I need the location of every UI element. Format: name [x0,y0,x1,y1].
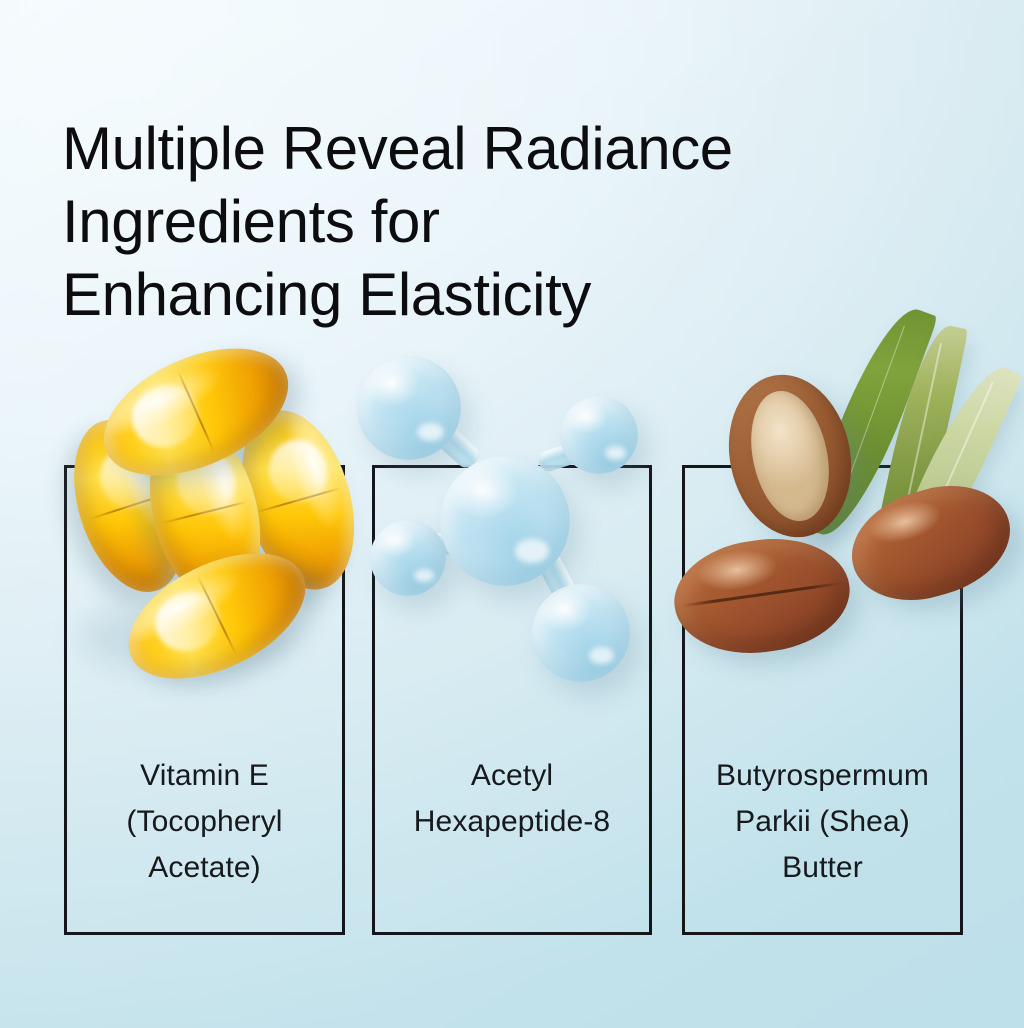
page-title: Multiple Reveal Radiance Ingredients for… [62,112,942,331]
ingredient-caption: Acetyl Hexapeptide-8 [375,753,649,845]
ingredient-panel-vitamin-e: Vitamin E (Tocopheryl Acetate) [64,465,345,935]
molecule-atom [560,396,638,474]
ingredient-infographic: Multiple Reveal Radiance Ingredients for… [0,0,1024,1028]
ingredient-caption: Butyrospermum Parkii (Shea) Butter [685,753,960,891]
ingredient-panel-shea-butter: Butyrospermum Parkii (Shea) Butter [682,465,963,935]
ingredient-caption: Vitamin E (Tocopheryl Acetate) [67,753,342,891]
ingredient-panel-acetyl-hexapeptide-8: Acetyl Hexapeptide-8 [372,465,652,935]
molecule-atom [357,356,461,460]
molecule-bond [425,416,483,471]
